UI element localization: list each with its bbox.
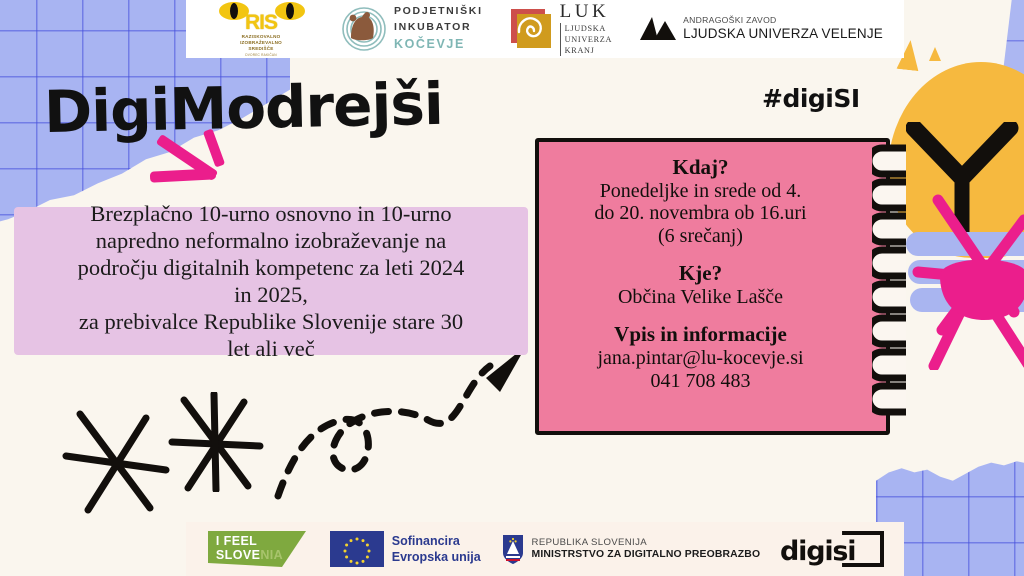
where-text: Občina Velike Lašče [618,286,783,309]
rs-text-block: REPUBLIKA SLOVENIJA MINISTRSTVO ZA DIGIT… [532,537,761,561]
pik-line-2: INKUBATOR [394,20,483,36]
european-union-logo: Sofinancira Evropska unija [330,526,481,572]
pik-line-1: PODJETNIŠKI [394,4,483,20]
ifs-line-2: SLOVENIA [216,548,283,562]
podjetniski-inkubator-kocevje-logo: PODJETNIŠKI INKUBATOR KOČEVJE [341,6,483,52]
top-partner-logo-bar: RIS RAZISKOVALNO IZOBRAŽEVALNO SREDIŠČE … [186,0,904,58]
contact-email[interactable]: jana.pintar@lu-kocevje.si [597,347,803,370]
luk-logo: LUK LJUDSKA UNIVERZA KRANJ [509,6,612,52]
ifs-nia: NIA [260,548,283,562]
when-text: Ponedeljke in srede od 4. do 20. novembr… [594,180,806,248]
spiral-binding-icon [872,134,928,440]
description-text: Brezplačno 10-urno osnovno in 10-urno na… [78,200,465,362]
ris-subtitle: RAZISKOVALNO IZOBRAŽEVALNO SREDIŠČE DVOR… [240,34,282,57]
ifs-line-1: I FEEL [216,534,257,548]
ris-eyes-icon [217,1,307,21]
bear-icon [341,6,387,52]
slovenia-coat-of-arms-icon [501,533,525,565]
i-feel-slovenia-logo: I FEEL SLOVENIA [206,529,310,569]
contact-phone[interactable]: 041 708 483 [651,370,751,393]
ljudska-univerza-velenje-logo: ANDRAGOŠKI ZAVOD LJUDSKA UNIVERZA VELENJ… [638,6,883,52]
ifs-love: LOVE [225,548,261,562]
luk-wordmark: LUK [560,2,612,21]
luk-sub-line-3: KRANJ [565,45,612,56]
republika-slovenija-ministrstvo-logo: REPUBLIKA SLOVENIJA MINISTRSTVO ZA DIGIT… [501,526,761,572]
eu-text-block: Sofinancira Evropska unija [392,533,481,566]
eu-flag-icon [330,531,384,567]
info-card: Kdaj? Ponedeljke in srede od 4. do 20. n… [535,138,890,435]
when-heading: Kdaj? [672,156,728,180]
eu-line-2: Evropska unija [392,549,481,565]
where-heading: Kje? [679,262,722,286]
luk-sub-line-1: LJUDSKA [565,23,612,34]
footer-logo-bar: I FEEL SLOVENIA Sofinancira Evropska uni… [186,522,904,576]
pik-line-3: KOČEVJE [394,35,483,54]
az-text-block: ANDRAGOŠKI ZAVOD LJUDSKA UNIVERZA VELENJ… [683,16,883,41]
luk-text-block: LUK LJUDSKA UNIVERZA KRANJ [560,2,612,56]
luk-sub-line-2: UNIVERZA [565,34,612,45]
az-line-2: LJUDSKA UNIVERZA VELENJE [683,26,883,42]
velenje-mark-icon [638,13,678,45]
page-title: DigiModrejši [43,70,443,146]
description-box: Brezplačno 10-urno osnovno in 10-urno na… [14,207,528,355]
digisi-logo: digisi [780,531,884,567]
az-line-1: ANDRAGOŠKI ZAVOD [683,16,883,26]
rs-line-2: MINISTRSTVO ZA DIGITALNO PREOBRAZBO [532,549,761,561]
hashtag-label: #digiSI [762,84,860,113]
asterisk-star-icon-1 [62,408,172,518]
rs-line-1: REPUBLIKA SLOVENIJA [532,537,761,549]
ris-logo: RIS RAZISKOVALNO IZOBRAŽEVALNO SREDIŠČE … [207,2,315,56]
luk-spiral-icon [509,7,553,51]
contact-heading: Vpis in informacije [614,323,787,347]
lightbulb-ray-small-icon [929,47,941,61]
ifs-s: S [216,548,225,562]
poster-canvas: RIS RAZISKOVALNO IZOBRAŽEVALNO SREDIŠČE … [0,0,1024,576]
ris-sub-line-4: DVOREC RAKIČAN [240,53,282,57]
pik-text-block: PODJETNIŠKI INKUBATOR KOČEVJE [394,4,483,54]
luk-sub-block: LJUDSKA UNIVERZA KRANJ [560,23,612,56]
eu-line-1: Sofinancira [392,533,481,549]
title-accent-stroke-3 [150,168,216,182]
